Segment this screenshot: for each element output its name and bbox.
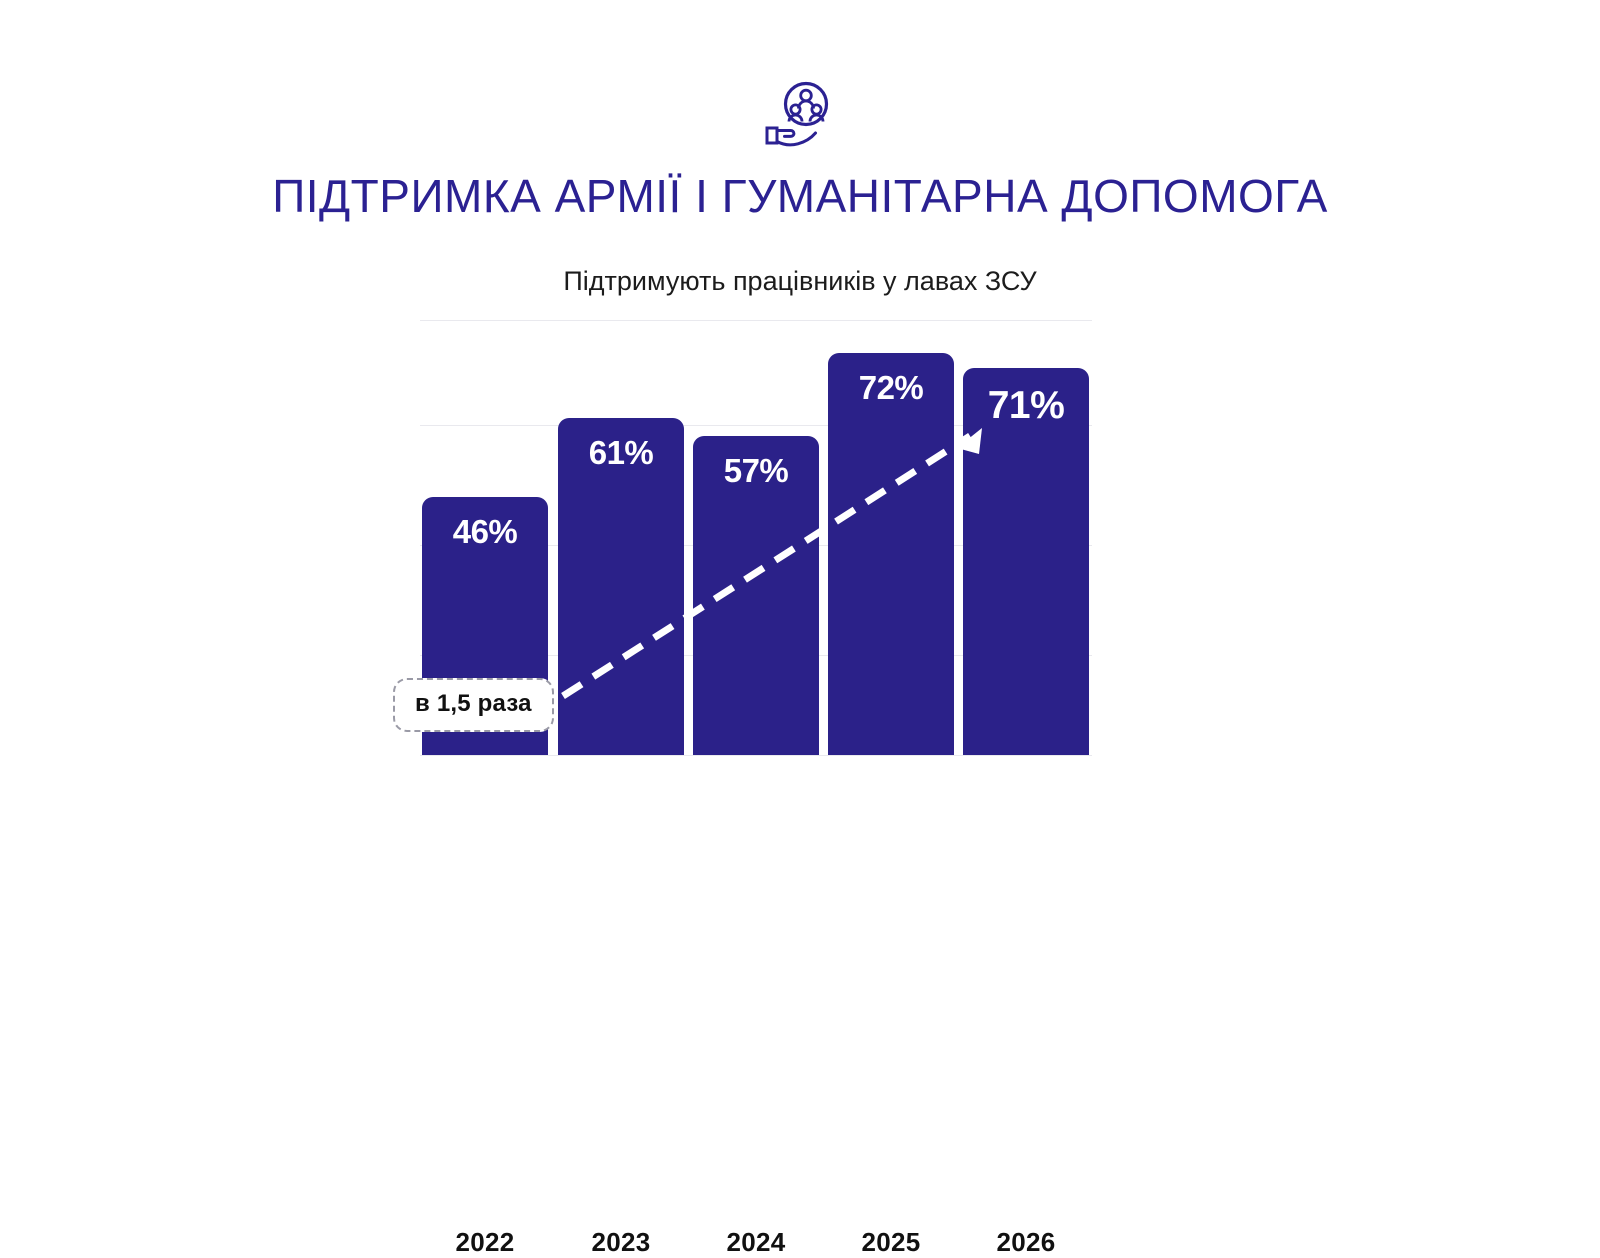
category-label-2022: 2022 xyxy=(422,1227,548,1258)
chart-subtitle: Підтримують працівників у лавах ЗСУ xyxy=(0,263,1600,299)
callout-badge: в 1,5 раза xyxy=(393,678,554,732)
category-label-2026: 2026 xyxy=(963,1227,1089,1258)
category-label-2023: 2023 xyxy=(558,1227,684,1258)
bar-value-label: 71% xyxy=(963,384,1089,428)
axis-baseline xyxy=(420,755,1092,756)
hand-holding-people-glyph xyxy=(765,80,835,148)
hand-holding-people-icon xyxy=(0,78,1600,150)
gridline xyxy=(420,320,1092,321)
bar-value-label: 57% xyxy=(693,452,819,490)
bar-2026[interactable]: 71% xyxy=(963,368,1089,755)
bar-value-label: 46% xyxy=(422,513,548,551)
category-label-2024: 2024 xyxy=(693,1227,819,1258)
bar-2024[interactable]: 57% xyxy=(693,436,819,755)
bar-chart: 46% 2022 61% 2023 57% 2024 72% 2025 xyxy=(410,300,1110,820)
page-title: ПІДТРИМКА АРМІЇ І ГУМАНІТАРНА ДОПОМОГА xyxy=(0,168,1600,224)
slide-canvas: ПІДТРИМКА АРМІЇ І ГУМАНІТАРНА ДОПОМОГА П… xyxy=(0,0,1600,900)
bar-value-label: 61% xyxy=(558,434,684,472)
category-label-2025: 2025 xyxy=(828,1227,954,1258)
bar-2023[interactable]: 61% xyxy=(558,418,684,755)
bar-2025[interactable]: 72% xyxy=(828,353,954,755)
bar-value-label: 72% xyxy=(828,369,954,407)
